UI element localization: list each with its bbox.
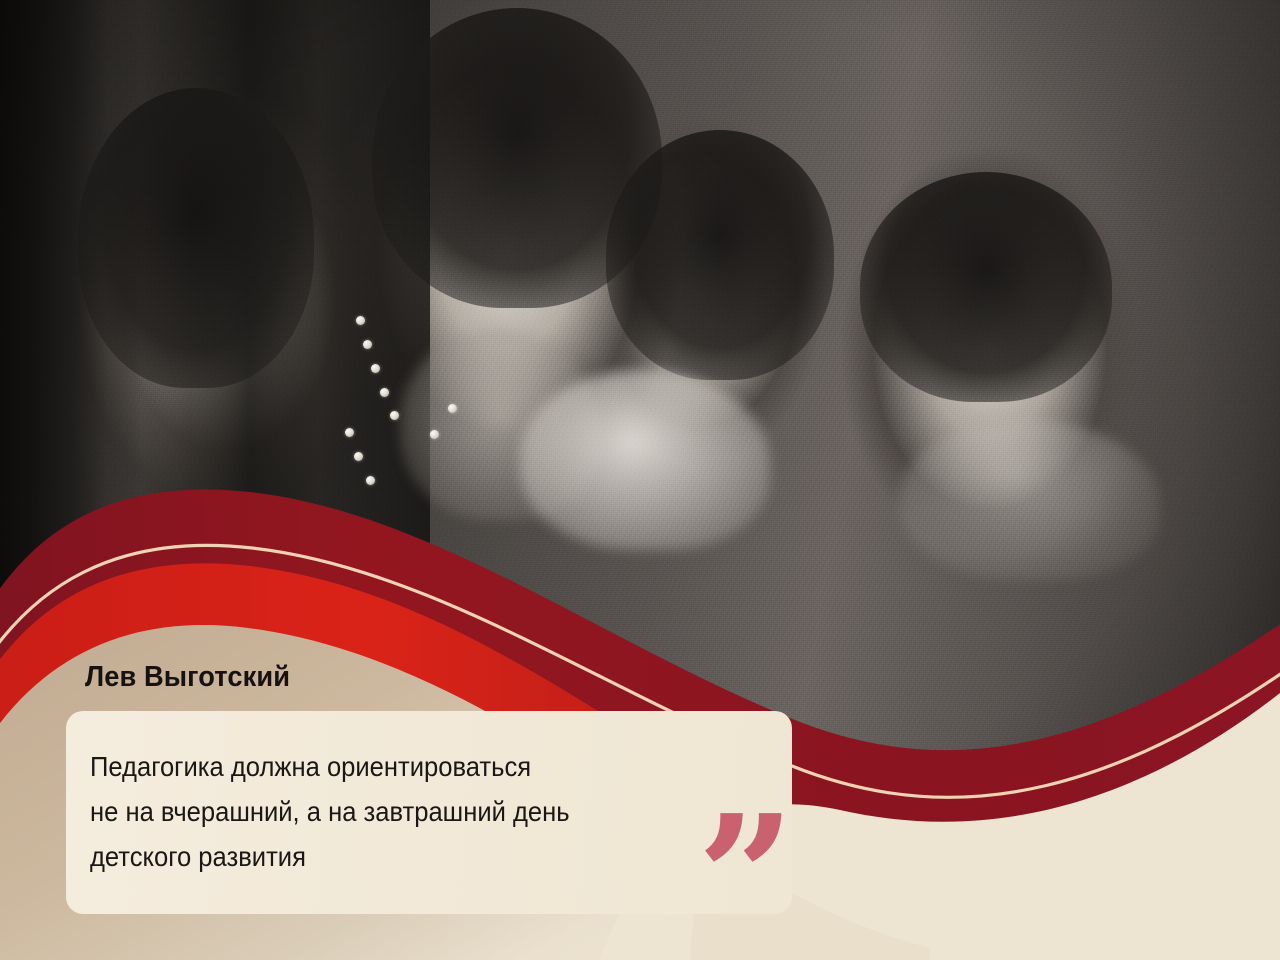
photo-subject-toddler-hair: [606, 130, 834, 380]
photo-mans-jacket: [900, 420, 1160, 580]
photo-subject-girl-hair: [78, 88, 314, 388]
pearl-bead: [430, 430, 439, 439]
photo-white-garment: [520, 370, 770, 550]
quote-card: Педагогика должна ориентироваться не на …: [66, 711, 792, 914]
author-name: Лев Выготский: [85, 661, 290, 694]
quote-text: Педагогика должна ориентироваться не на …: [90, 744, 717, 879]
pearl-bead: [354, 452, 363, 461]
pearl-bead: [356, 316, 365, 325]
quotation-mark-icon: ”: [697, 818, 795, 938]
pearl-bead: [366, 476, 375, 485]
pearl-bead: [345, 428, 354, 437]
poster-canvas: Лев Выготский Педагогика должна ориентир…: [0, 0, 1280, 960]
pearl-bead: [390, 411, 399, 420]
pearl-bead: [371, 364, 380, 373]
pearl-bead: [363, 340, 372, 349]
pearl-bead: [448, 404, 457, 413]
pearl-bead: [380, 388, 389, 397]
photo-subject-man-hair: [860, 172, 1112, 402]
